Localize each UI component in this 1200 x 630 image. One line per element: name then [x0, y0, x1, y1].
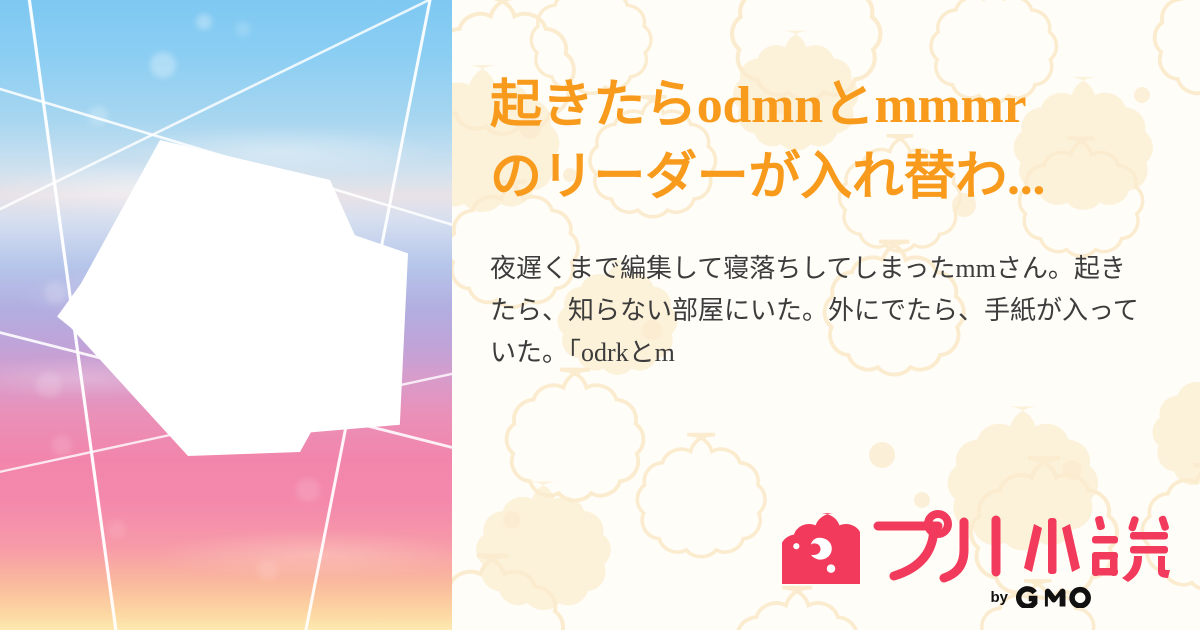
brand-logo[interactable]: by [782, 510, 1172, 608]
panel-content: 起きたらodmnとmmmr のリーダーが入れ替わ... 夜遅くまで編集して寝落ち… [452, 0, 1200, 630]
story-content-panel: 起きたらodmnとmmmr のリーダーが入れ替わ... 夜遅くまで編集して寝落ち… [452, 0, 1200, 630]
story-excerpt: 夜遅くまで編集して寝落ちしてしまったmmさん。起きたら、知らない部屋にいた。外に… [490, 248, 1140, 374]
gmo-logo [1012, 586, 1094, 608]
puri-shosetsu-bubble-icon [782, 510, 860, 584]
cover-geometry [0, 0, 452, 630]
story-share-card: 起きたらodmnとmmmr のリーダーが入れ替わ... 夜遅くまで編集して寝落ち… [0, 0, 1200, 630]
byline: by [782, 586, 1094, 608]
puri-shosetsu-wordmark [872, 510, 1172, 584]
story-cover-image[interactable] [0, 0, 452, 630]
byline-prefix: by [990, 590, 1008, 605]
story-title: 起きたらodmnとmmmr のリーダーが入れ替わ... [490, 70, 1160, 214]
logo-row [782, 510, 1172, 584]
